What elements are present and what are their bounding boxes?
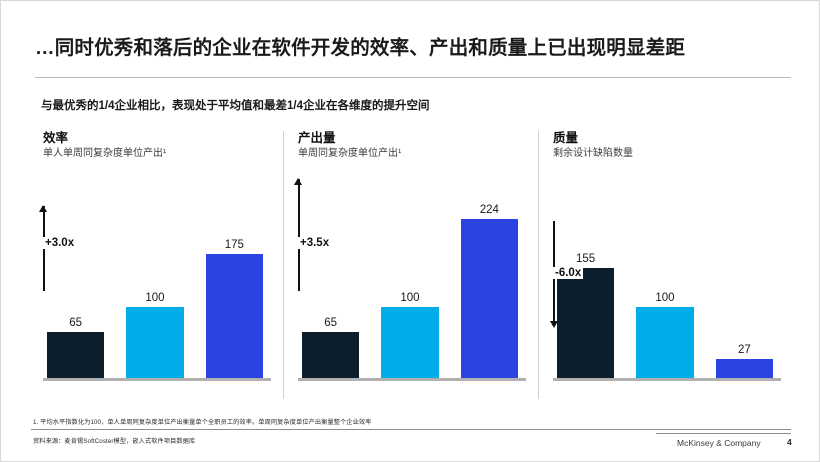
bar-slot: 100 (381, 178, 438, 378)
footnote-text: 1. 平均水平指数化为100，单人单周同复杂度单位产出衡量单个全职员工的效率。单… (33, 417, 789, 426)
annotation-label: -6.0x (553, 267, 583, 279)
bar-slot: 65 (302, 178, 359, 378)
brand-divider (656, 433, 791, 434)
bar-group: 155 100 27 (557, 178, 773, 378)
bar-value-label: 100 (400, 291, 419, 305)
axis-baseline (553, 378, 781, 381)
bar-average[interactable] (381, 307, 438, 378)
slide-canvas: …同时优秀和落后的企业在软件开发的效率、产出和质量上已出现明显差距 与最优秀的1… (0, 0, 820, 462)
bar-slot: 175 (206, 178, 263, 378)
bar-slot: 65 (47, 178, 104, 378)
annotation-label: +3.5x (298, 237, 331, 249)
chart-panel-quality: 质量 剩余设计缺陷数量 155 100 27 (538, 131, 793, 399)
page-number: 4 (787, 437, 792, 447)
bar-worst-quartile[interactable] (302, 332, 359, 378)
bar-worst-quartile[interactable] (557, 268, 614, 378)
bar-best-quartile[interactable] (206, 254, 263, 378)
bar-best-quartile[interactable] (716, 359, 773, 378)
bar-group: 65 100 175 (47, 178, 263, 378)
bar-value-label: 65 (324, 316, 337, 330)
bar-value-label: 224 (480, 203, 499, 217)
panel-subtitle: 单人单周同复杂度单位产出¹ (43, 147, 283, 161)
annotation-arrowhead-down (550, 321, 558, 328)
brand-label: McKinsey & Company (677, 438, 761, 448)
bar-value-label: 155 (576, 252, 595, 266)
plot-area: 65 100 224 + (298, 175, 526, 393)
title-divider (35, 77, 791, 78)
bar-value-label: 27 (738, 343, 751, 357)
bar-value-label: 175 (225, 238, 244, 252)
chart-panel-output: 产出量 单周同复杂度单位产出¹ 65 100 224 (283, 131, 538, 399)
footer-divider (31, 429, 791, 430)
chart-panel-group: 效率 单人单周同复杂度单位产出¹ 65 100 175 (29, 131, 793, 399)
bar-value-label: 100 (145, 291, 164, 305)
axis-baseline (43, 378, 271, 381)
panel-subtitle: 单周同复杂度单位产出¹ (298, 147, 538, 161)
source-text: 资料来源：麦肯锡SoftCoster模型，嵌入式软件项目数据库 (33, 436, 533, 445)
bar-average[interactable] (636, 307, 693, 378)
bar-worst-quartile[interactable] (47, 332, 104, 378)
axis-baseline (298, 378, 526, 381)
bar-best-quartile[interactable] (461, 219, 518, 378)
plot-area: 155 100 27 - (553, 175, 781, 393)
bar-slot: 100 (126, 178, 183, 378)
page-subtitle: 与最优秀的1/4企业相比，表现处于平均值和最差1/4企业在各维度的提升空间 (41, 97, 781, 113)
bar-value-label: 100 (655, 291, 674, 305)
bar-slot: 27 (716, 178, 773, 378)
panel-title: 产出量 (298, 131, 538, 146)
bar-slot: 224 (461, 178, 518, 378)
panel-subtitle: 剩余设计缺陷数量 (553, 147, 793, 161)
bar-slot: 100 (636, 178, 693, 378)
bar-average[interactable] (126, 307, 183, 378)
annotation-label: +3.0x (43, 237, 76, 249)
annotation-stem (298, 179, 300, 291)
panel-title: 质量 (553, 131, 793, 146)
bar-group: 65 100 224 (302, 178, 518, 378)
panel-title: 效率 (43, 131, 283, 146)
chart-panel-efficiency: 效率 单人单周同复杂度单位产出¹ 65 100 175 (29, 131, 283, 399)
bar-value-label: 65 (69, 316, 82, 330)
page-title: …同时优秀和落后的企业在软件开发的效率、产出和质量上已出现明显差距 (35, 31, 791, 60)
plot-area: 65 100 175 + (43, 175, 271, 393)
